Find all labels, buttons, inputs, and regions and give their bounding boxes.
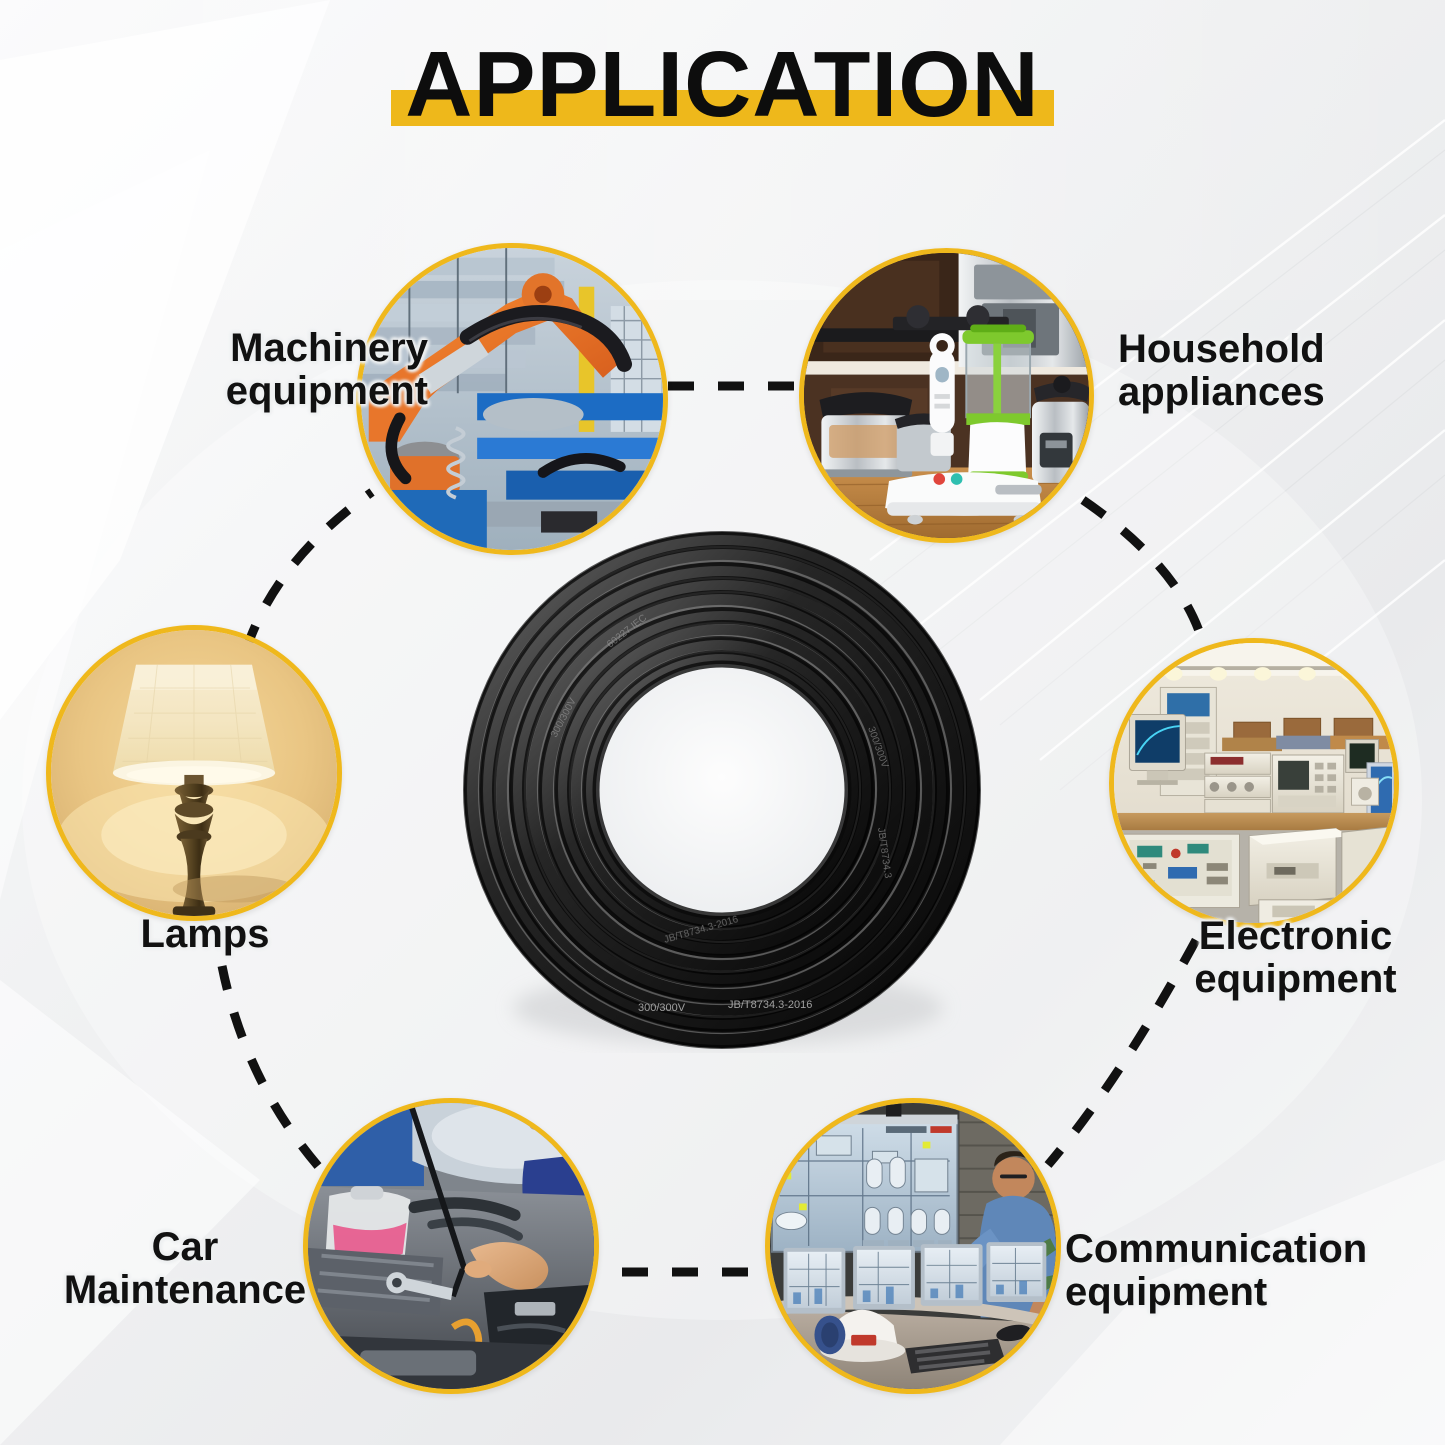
connector-lamps-machinery: [246, 492, 372, 650]
cable-voltage-text: 300/300V: [638, 1002, 686, 1014]
page-title: APPLICATION: [0, 34, 1445, 134]
cable-coil-image: 300/300V JB/T8734.3-2016 JB/T8734.3-2016…: [460, 528, 985, 1053]
label-lamps: Lamps: [60, 913, 350, 956]
household-appliances-photo: [804, 253, 1089, 538]
communication-equipment-photo: [770, 1103, 1056, 1389]
title-text: APPLICATION: [405, 34, 1039, 134]
connector-household-electronic: [1083, 500, 1205, 650]
label-electronic-equipment: Electronic equipment: [1148, 915, 1443, 1001]
application-circle-car-maintenance[interactable]: [303, 1098, 599, 1394]
car-maintenance-photo: [308, 1103, 594, 1389]
label-household-appliances: Household appliances: [1118, 328, 1418, 414]
application-circle-electronic-equipment[interactable]: [1109, 638, 1399, 928]
electronic-equipment-photo: [1114, 643, 1394, 923]
application-circle-communication-equipment[interactable]: [765, 1098, 1061, 1394]
label-car-maintenance: Car Maintenance: [30, 1226, 340, 1312]
application-circle-household-appliances[interactable]: [799, 248, 1094, 543]
application-circle-lamps[interactable]: [46, 625, 342, 921]
label-communication-equipment: Communication equipment: [1065, 1228, 1445, 1314]
lamps-photo: [51, 630, 337, 916]
connector-car-lamps: [222, 966, 318, 1166]
label-machinery-equipment: Machinery equipment: [138, 327, 428, 413]
cable-standard-text: JB/T8734.3-2016: [728, 999, 812, 1011]
